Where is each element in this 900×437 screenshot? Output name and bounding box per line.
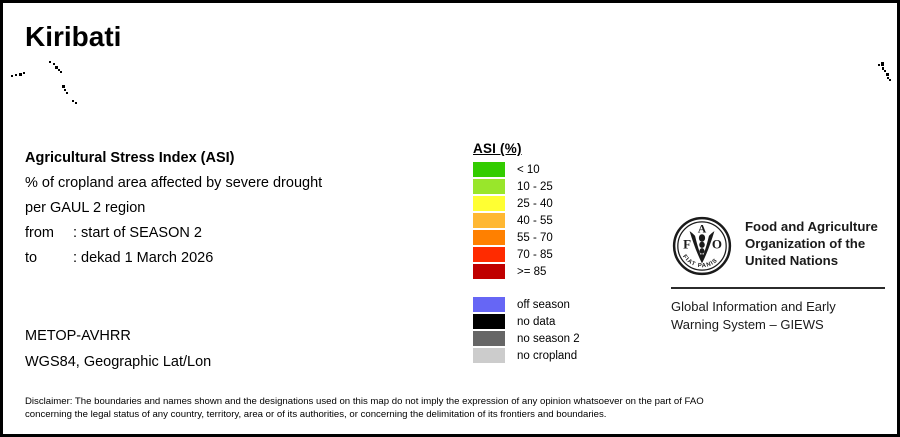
island-marker <box>60 71 62 73</box>
island-marker <box>886 73 889 76</box>
legend-color-swatch <box>473 196 505 211</box>
period-to-value: : dekad 1 March 2026 <box>73 250 213 266</box>
island-marker <box>49 61 51 63</box>
legend-item: < 10 <box>473 161 633 178</box>
island-marker <box>19 73 22 76</box>
legend-item: 55 - 70 <box>473 229 633 246</box>
legend-color-swatch <box>473 247 505 262</box>
period-from-value: : start of SEASON 2 <box>73 225 202 241</box>
fao-divider <box>671 287 885 289</box>
legend-item-label: no cropland <box>517 350 577 362</box>
legend-item: >= 85 <box>473 263 633 280</box>
island-marker <box>881 62 884 66</box>
legend-color-swatch <box>473 314 505 329</box>
legend: ASI (%) < 1010 - 2525 - 4040 - 5555 - 70… <box>473 141 633 364</box>
legend-color-swatch <box>473 297 505 312</box>
legend-item: no data <box>473 313 633 330</box>
fao-emblem-icon: F O A FIAT PANIS <box>671 215 733 277</box>
legend-item-label: no data <box>517 316 555 328</box>
description-heading: Agricultural Stress Index (ASI) <box>25 146 455 171</box>
island-marker <box>11 75 13 77</box>
island-marker <box>66 92 68 94</box>
fao-logo-row: F O A FIAT PANIS Food and Agriculture Or… <box>671 215 885 277</box>
legend-color-swatch <box>473 348 505 363</box>
legend-item-label: >= 85 <box>517 266 546 278</box>
legend-status-list: off seasonno datano season 2no cropland <box>473 296 633 364</box>
legend-title: ASI (%) <box>473 141 633 156</box>
legend-item: 10 - 25 <box>473 178 633 195</box>
map-poster: Kiribati Agricultural Stress Index (ASI)… <box>0 0 900 437</box>
island-marker <box>878 64 880 66</box>
legend-item: off season <box>473 296 633 313</box>
svg-text:F: F <box>683 236 691 251</box>
legend-item-label: 25 - 40 <box>517 198 553 210</box>
period-from-label: from <box>25 221 73 246</box>
legend-item: no cropland <box>473 347 633 364</box>
description-block: Agricultural Stress Index (ASI) % of cro… <box>25 146 455 271</box>
legend-class-list: < 1010 - 2525 - 4040 - 5555 - 7070 - 85>… <box>473 161 633 280</box>
svg-text:A: A <box>698 222 707 235</box>
island-marker <box>887 77 889 79</box>
legend-item-label: < 10 <box>517 164 540 176</box>
island-marker <box>64 89 66 91</box>
legend-color-swatch <box>473 162 505 177</box>
legend-item-label: 55 - 70 <box>517 232 553 244</box>
projection-label: WGS84, Geographic Lat/Lon <box>25 349 455 375</box>
island-marker <box>72 100 74 102</box>
period-from-row: from: start of SEASON 2 <box>25 221 455 246</box>
legend-color-swatch <box>473 179 505 194</box>
island-marker <box>23 72 25 74</box>
legend-spacer <box>473 280 633 296</box>
legend-item-label: 40 - 55 <box>517 215 553 227</box>
svg-text:O: O <box>712 236 722 251</box>
legend-item-label: no season 2 <box>517 333 580 345</box>
island-marker <box>53 63 55 65</box>
legend-item: 70 - 85 <box>473 246 633 263</box>
disclaimer-text: Disclaimer: The boundaries and names sho… <box>25 395 875 421</box>
legend-color-swatch <box>473 331 505 346</box>
period-to-label: to <box>25 246 73 271</box>
legend-item-label: 10 - 25 <box>517 181 553 193</box>
island-marker <box>75 102 77 104</box>
page-title: Kiribati <box>25 22 121 51</box>
legend-color-swatch <box>473 230 505 245</box>
legend-item: 25 - 40 <box>473 195 633 212</box>
period-to-row: to: dekad 1 March 2026 <box>25 246 455 271</box>
source-block: METOP-AVHRR WGS84, Geographic Lat/Lon <box>25 323 455 375</box>
legend-item: no season 2 <box>473 330 633 347</box>
island-marker <box>62 85 65 88</box>
legend-item: 40 - 55 <box>473 212 633 229</box>
legend-item-label: 70 - 85 <box>517 249 553 261</box>
legend-color-swatch <box>473 264 505 279</box>
fao-organization-name: Food and Agriculture Organization of the… <box>745 215 878 269</box>
island-marker <box>889 79 891 81</box>
island-marker <box>882 67 884 70</box>
legend-item-label: off season <box>517 299 570 311</box>
description-line-1: % of cropland area affected by severe dr… <box>25 171 455 196</box>
sensor-label: METOP-AVHRR <box>25 323 455 349</box>
fao-branding-block: F O A FIAT PANIS Food and Agriculture Or… <box>671 215 885 334</box>
island-marker <box>55 66 58 69</box>
legend-color-swatch <box>473 213 505 228</box>
description-line-2: per GAUL 2 region <box>25 196 455 221</box>
island-marker <box>884 70 886 72</box>
island-marker <box>58 69 60 71</box>
island-marker <box>15 74 17 76</box>
giews-name: Global Information and Early Warning Sys… <box>671 298 885 334</box>
